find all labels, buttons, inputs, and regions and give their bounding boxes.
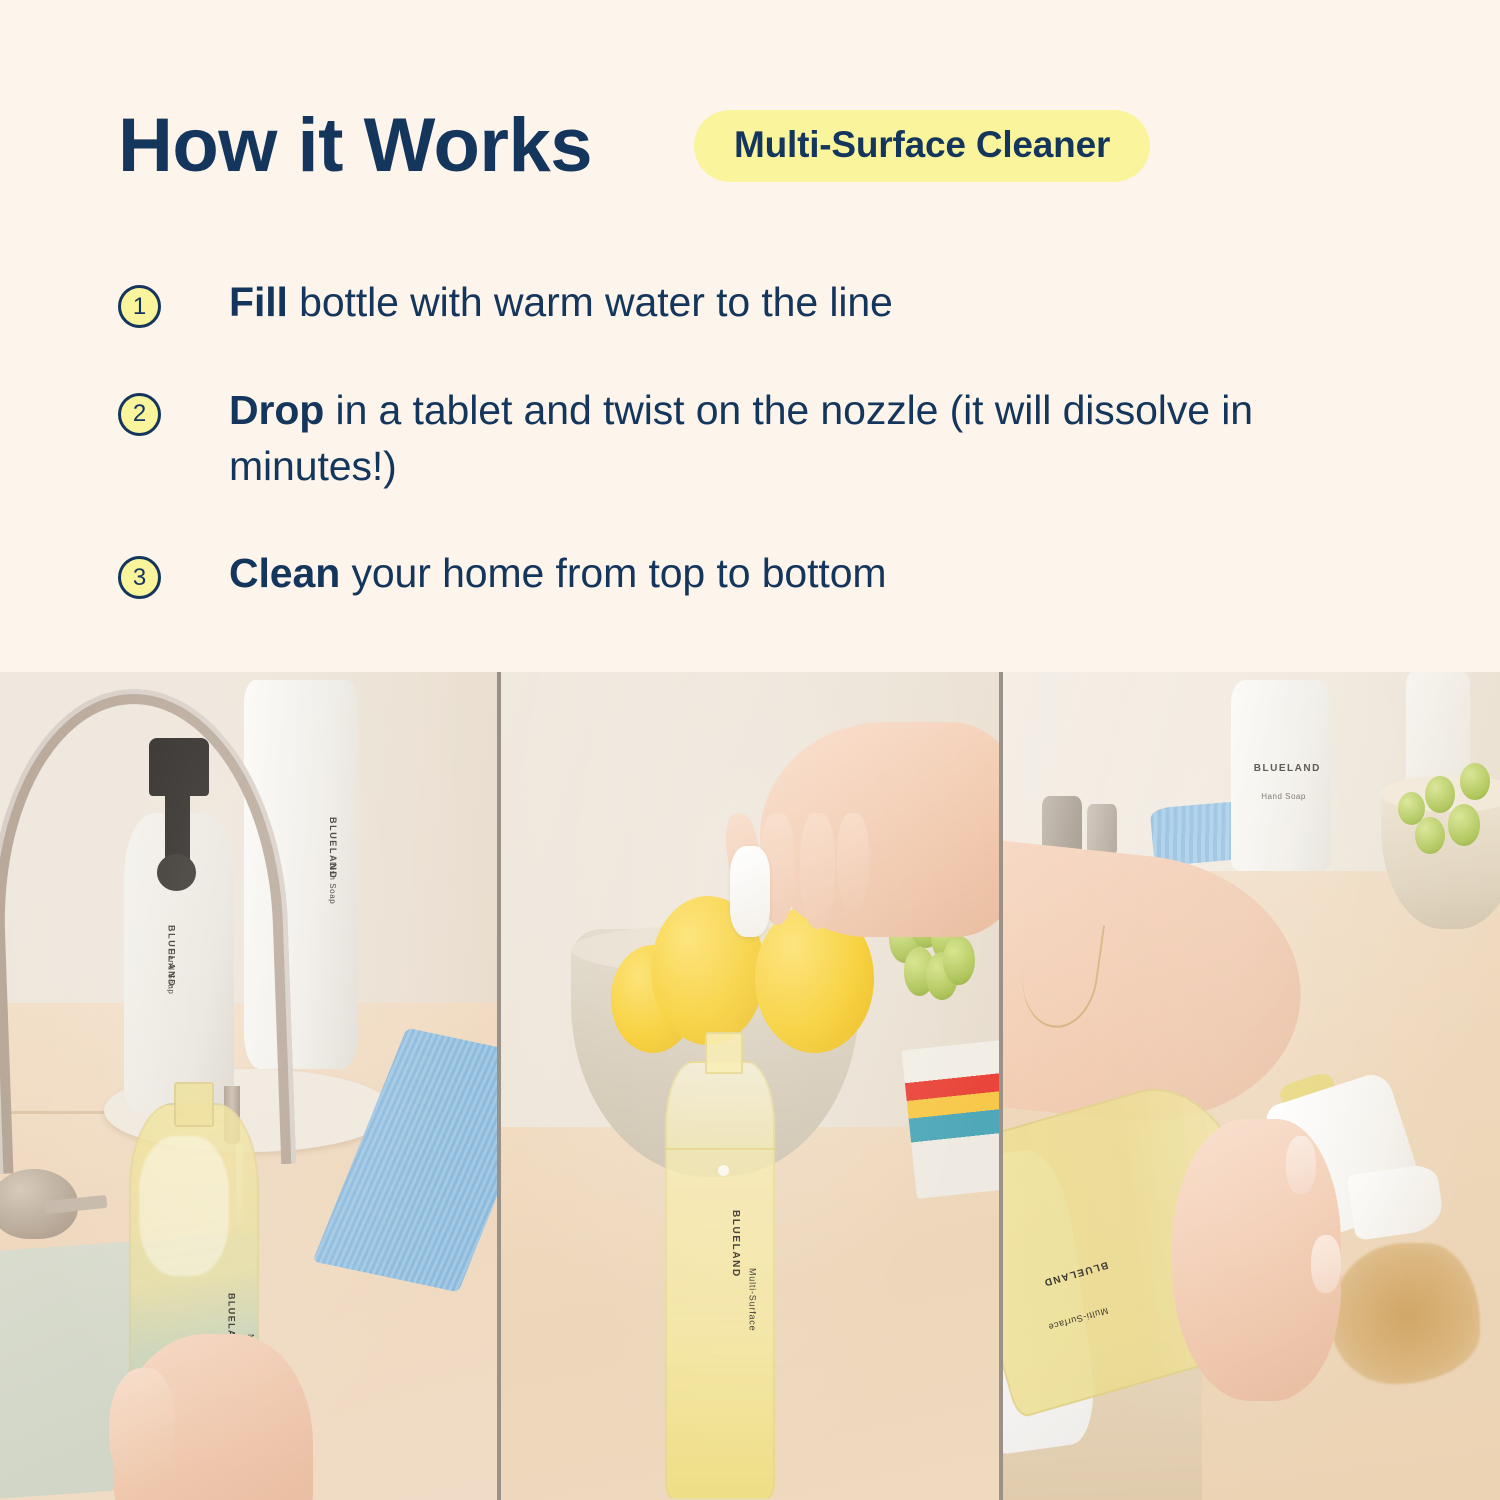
grape [1425, 776, 1455, 813]
instructions-section: How it Works Multi-Surface Cleaner 1 Fil… [0, 0, 1500, 672]
step-text: Clean your home from top to bottom [229, 546, 886, 602]
hand-soap-bottle [1231, 680, 1330, 870]
liquid-spill [1331, 1243, 1480, 1384]
photo-fill-bottle: BLUELAND Dish Soap BLUELAND Hand Soap BL… [0, 672, 497, 1500]
fill-line-dot [718, 1165, 729, 1176]
cleaning-tablet [730, 846, 770, 937]
dish-soap-product-label: Dish Soap [328, 862, 337, 904]
grape [1448, 804, 1480, 845]
step-text: Drop in a tablet and twist on the nozzle… [229, 383, 1399, 495]
bottle-neck-open [705, 1032, 742, 1073]
fill-line [665, 1148, 774, 1150]
step-lead-word: Clean [229, 550, 340, 596]
step-number-badge: 3 [118, 556, 161, 599]
stacked-books [902, 1040, 999, 1199]
how-it-works-infographic: How it Works Multi-Surface Cleaner 1 Fil… [0, 0, 1500, 1500]
step-item: 3 Clean your home from top to bottom [118, 546, 1408, 602]
step-item: 1 Fill bottle with warm water to the lin… [118, 275, 1408, 331]
thumb [109, 1368, 174, 1484]
hand-soap-product-label: Hand Soap [1261, 792, 1306, 801]
step-rest-text: in a tablet and twist on the nozzle (it … [229, 387, 1253, 489]
step-lead-word: Fill [229, 279, 288, 325]
faucet-handle [1087, 804, 1117, 854]
finger [837, 813, 869, 912]
step-rest-text: your home from top to bottom [340, 550, 886, 596]
step-text: Fill bottle with warm water to the line [229, 275, 893, 331]
bottle-brand-label: BLUELAND [730, 1210, 741, 1278]
step-rest-text: bottle with warm water to the line [288, 279, 893, 325]
photo-drop-tablet: BLUELAND Multi-Surface [501, 672, 998, 1500]
page-title: How it Works [118, 108, 592, 184]
steps-list: 1 Fill bottle with warm water to the lin… [118, 275, 1408, 602]
multi-surface-bottle [665, 1061, 774, 1500]
fingernail [1286, 1136, 1316, 1194]
product-badge: Multi-Surface Cleaner [694, 110, 1150, 182]
step-item: 2 Drop in a tablet and twist on the nozz… [118, 383, 1408, 495]
step-number-badge: 1 [118, 285, 161, 328]
step-number-badge: 2 [118, 393, 161, 436]
bottle-neck [174, 1082, 214, 1128]
header-row: How it Works Multi-Surface Cleaner [118, 108, 1408, 184]
water-foam [139, 1136, 229, 1277]
photo-strip: BLUELAND Dish Soap BLUELAND Hand Soap BL… [0, 672, 1500, 1500]
step-lead-word: Drop [229, 387, 324, 433]
finger [800, 813, 835, 929]
hand-soap-brand-label: BLUELAND [1254, 763, 1321, 774]
photo-twist-nozzle: BLUELAND Hand Soap BLUELAND Multi-Surfac… [1003, 672, 1500, 1500]
fingernail [1311, 1235, 1341, 1293]
bottle-product-label: Multi-Surface [748, 1268, 758, 1331]
